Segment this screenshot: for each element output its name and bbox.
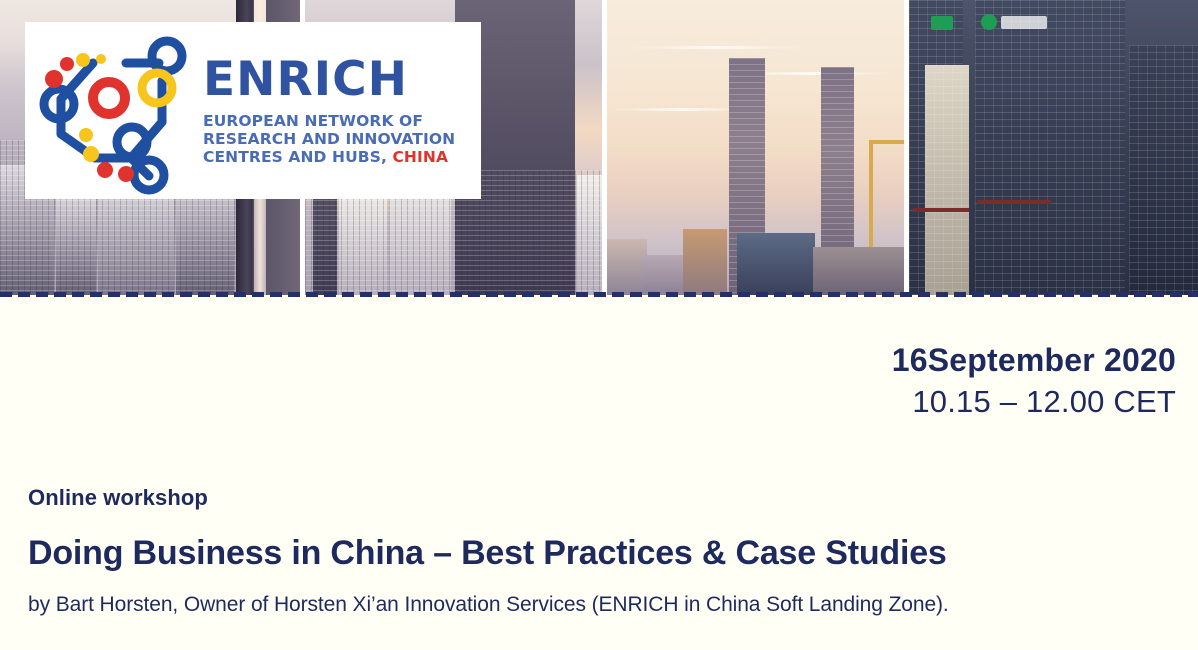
- panel3-cloud-1: [627, 46, 807, 49]
- enrich-tagline-line-2: RESEARCH AND INNOVATION: [203, 130, 455, 148]
- dashed-divider: [0, 292, 1198, 297]
- enrich-tagline-china: CHINA: [392, 148, 448, 166]
- banner-panel-dark-glass-towers: [909, 0, 1198, 295]
- panel4-tower-right: [1129, 45, 1198, 295]
- enrich-tagline: EUROPEAN NETWORK OF RESEARCH AND INNOVAT…: [203, 112, 455, 166]
- event-date: 16September 2020: [892, 342, 1176, 380]
- banner-panel-sunset-skyline: [607, 0, 904, 295]
- panel3-crane-jib: [869, 140, 904, 144]
- panel4-tower-light: [925, 65, 969, 295]
- event-date-block: 16September 2020 10.15 – 12.00 CET: [892, 342, 1176, 420]
- enrich-logo: ENRICH EUROPEAN NETWORK OF RESEARCH AND …: [25, 22, 481, 199]
- enrich-tagline-line-3-main: CENTRES AND HUBS,: [203, 148, 387, 166]
- panel4-sign-left-icon: [931, 16, 953, 30]
- enrich-tagline-line-1: EUROPEAN NETWORK OF: [203, 112, 455, 130]
- event-byline: by Bart Horsten, Owner of Horsten Xi’an …: [28, 592, 1184, 617]
- panel4-sign-right-icon: [981, 14, 997, 30]
- panel4-red-band-left: [913, 208, 969, 212]
- panel4-red-band-right: [977, 200, 1051, 204]
- enrich-logo-text: ENRICH EUROPEAN NETWORK OF RESEARCH AND …: [203, 54, 455, 166]
- event-kicker: Online workshop: [28, 485, 1184, 511]
- event-title: Doing Business in China – Best Practices…: [28, 535, 1184, 572]
- enrich-network-icon: [31, 26, 201, 196]
- hero-banner: ENRICH EUROPEAN NETWORK OF RESEARCH AND …: [0, 0, 1198, 295]
- enrich-wordmark: ENRICH: [203, 58, 455, 103]
- event-content: 16September 2020 10.15 – 12.00 CET Onlin…: [0, 295, 1198, 650]
- panel4-sign-right-text: [1001, 16, 1047, 29]
- event-time: 10.15 – 12.00 CET: [892, 383, 1176, 420]
- event-title-block: Online workshop Doing Business in China …: [28, 485, 1184, 618]
- panel4-tower-main: [975, 0, 1125, 295]
- enrich-tagline-line-3: CENTRES AND HUBS, CHINA: [203, 148, 455, 166]
